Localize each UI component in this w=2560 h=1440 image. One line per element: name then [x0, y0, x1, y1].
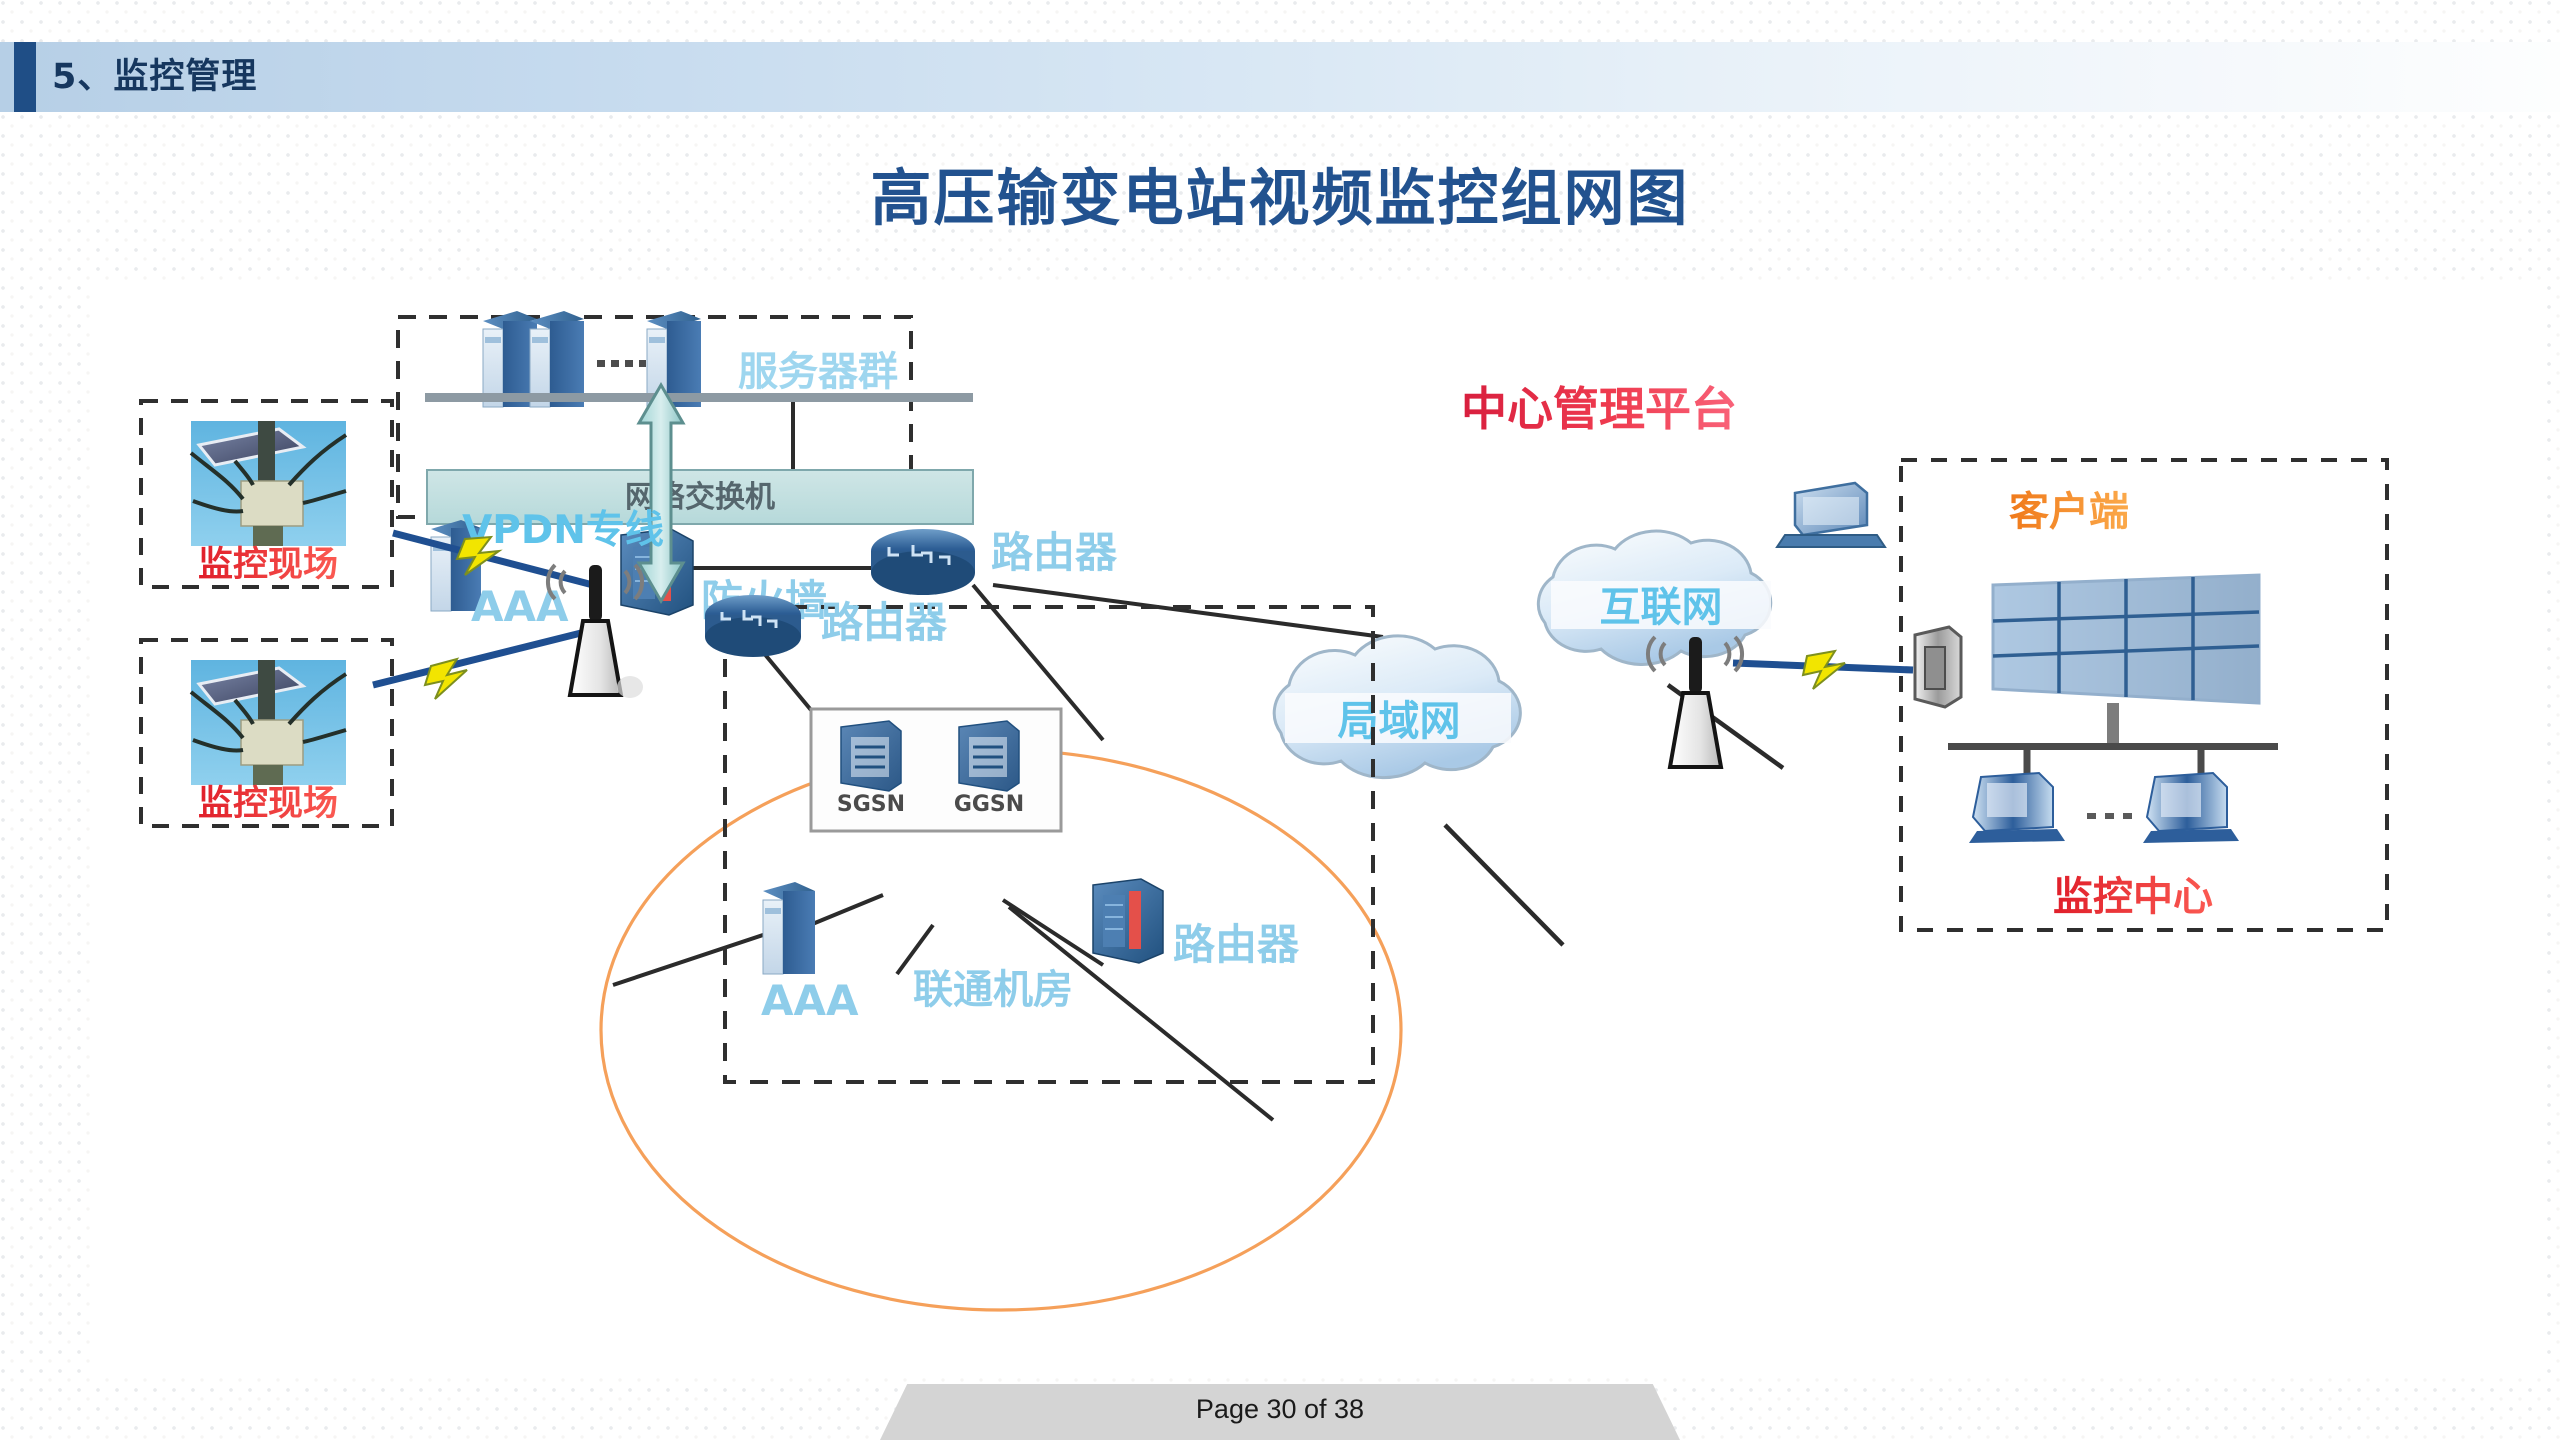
wireless-link-right: [1733, 651, 1913, 689]
router-unicom-2-label: 路由器: [1173, 920, 1300, 969]
diagram-canvas: 服务器群 网络交换机 AAA 防火墙 路由器 中心管理平台: [93, 285, 2541, 1376]
network-topology-diagram: 服务器群 网络交换机 AAA 防火墙 路由器 中心管理平台: [93, 285, 2541, 1376]
monitor-center-zone-label: 监控中心: [2053, 874, 2213, 920]
workstation-ellipsis-icon: [2087, 813, 2132, 819]
router-center-label: 路由器: [991, 528, 1118, 577]
client-laptop-icon: [1777, 483, 1885, 547]
monitor-center-bus-bar: [1948, 743, 2278, 750]
header-band: [0, 42, 2560, 112]
highlight-ellipse: [601, 750, 1401, 1310]
vpdn-link-label: VPDN专线: [462, 508, 664, 553]
site-top-photo: [191, 421, 346, 546]
sgsn-icon: [841, 721, 901, 791]
cloud-internet-label: 互联网: [1600, 583, 1723, 631]
aaa-center-label: AAA: [471, 582, 569, 631]
server-bus-bar: [425, 393, 973, 402]
server-farm-label: 服务器群: [738, 349, 898, 395]
page-title: 高压输变电站视频监控组网图: [0, 148, 2560, 237]
server-farm-icon: [483, 311, 701, 407]
site-bottom-photo: [191, 660, 346, 785]
router-unicom-icon: [705, 595, 801, 657]
site-bottom-label: 监控现场: [198, 784, 338, 824]
wireless-modem-icon: [1915, 627, 1961, 707]
aaa-unicom-label: AAA: [761, 976, 859, 1025]
router-center-icon: [871, 529, 975, 595]
router-unicom-2-icon: [1093, 879, 1163, 963]
page-indicator: Page 30 of 38: [880, 1384, 1680, 1440]
unicom-room-zone-label: 联通机房: [913, 967, 1073, 1013]
workstation-right-icon: [2143, 773, 2239, 843]
section-heading: 5、监控管理: [52, 42, 257, 112]
site-top-label: 监控现场: [198, 545, 338, 585]
cloud-lan-label: 局域网: [1338, 697, 1461, 745]
tower-right-icon: [1648, 637, 1742, 767]
header-accent-bar: [14, 42, 36, 112]
router-unicom-label: 路由器: [821, 598, 948, 647]
workstation-left-icon: [1969, 773, 2065, 843]
center-platform-zone-label: 中心管理平台: [1461, 382, 1737, 436]
aaa-unicom-icon: [763, 882, 815, 974]
sgsn-label: SGSN: [837, 792, 905, 817]
tower-left-icon: [548, 565, 643, 698]
ggsn-label: GGSN: [954, 792, 1024, 817]
ggsn-icon: [959, 721, 1019, 791]
client-laptop-label: 客户端: [2009, 489, 2129, 535]
video-wall-icon: [1993, 575, 2259, 745]
server-ellipsis-icon: [597, 360, 646, 367]
wireless-link-bottom: [373, 630, 593, 699]
